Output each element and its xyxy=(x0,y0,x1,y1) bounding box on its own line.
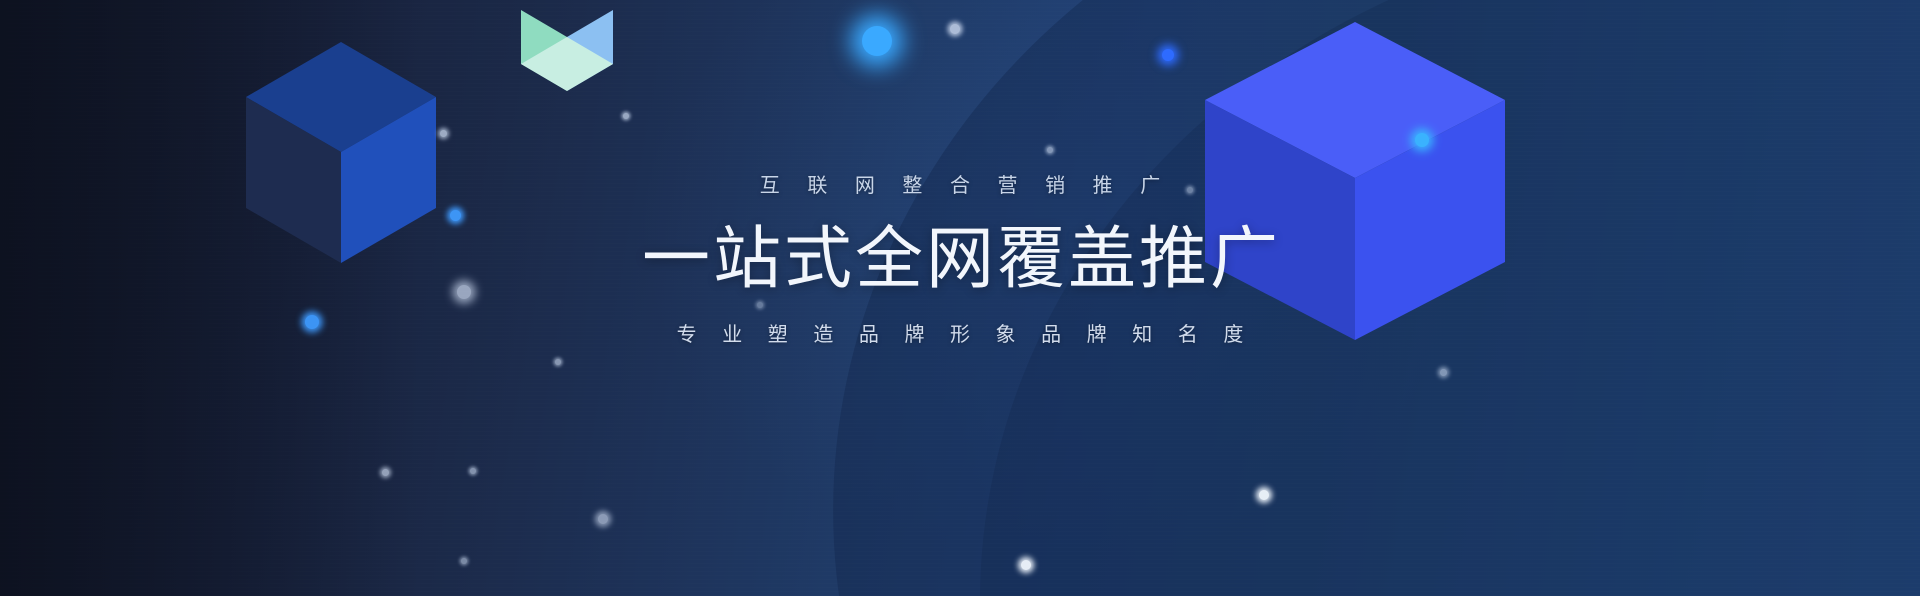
hero-banner: 互 联 网 整 合 营 销 推 广 一站式全网覆盖推广 专 业 塑 造 品 牌 … xyxy=(0,0,1920,596)
particle-dot xyxy=(1162,49,1174,61)
particle-dot xyxy=(1021,560,1031,570)
particle-dot xyxy=(1415,133,1429,147)
mint-isometric-cube-icon xyxy=(521,0,613,92)
particle-dot xyxy=(1047,147,1053,153)
particle-dot xyxy=(862,26,892,56)
particle-dot xyxy=(623,113,629,119)
eyebrow-text: 互 联 网 整 合 营 销 推 广 xyxy=(0,176,1920,196)
particle-dot xyxy=(1259,490,1269,500)
particle-dot xyxy=(555,359,561,365)
particle-dot xyxy=(382,469,389,476)
hero-text-block: 互 联 网 整 合 营 销 推 广 一站式全网覆盖推广 专 业 塑 造 品 牌 … xyxy=(0,176,1920,345)
particle-dot xyxy=(461,558,467,564)
particle-dot xyxy=(1440,369,1447,376)
particle-dot xyxy=(470,468,476,474)
particle-dot xyxy=(440,130,447,137)
particle-dot xyxy=(950,24,960,34)
subtitle-text: 专 业 塑 造 品 牌 形 象 品 牌 知 名 度 xyxy=(0,325,1920,345)
headline-text: 一站式全网覆盖推广 xyxy=(0,224,1920,295)
particle-dot xyxy=(598,514,608,524)
